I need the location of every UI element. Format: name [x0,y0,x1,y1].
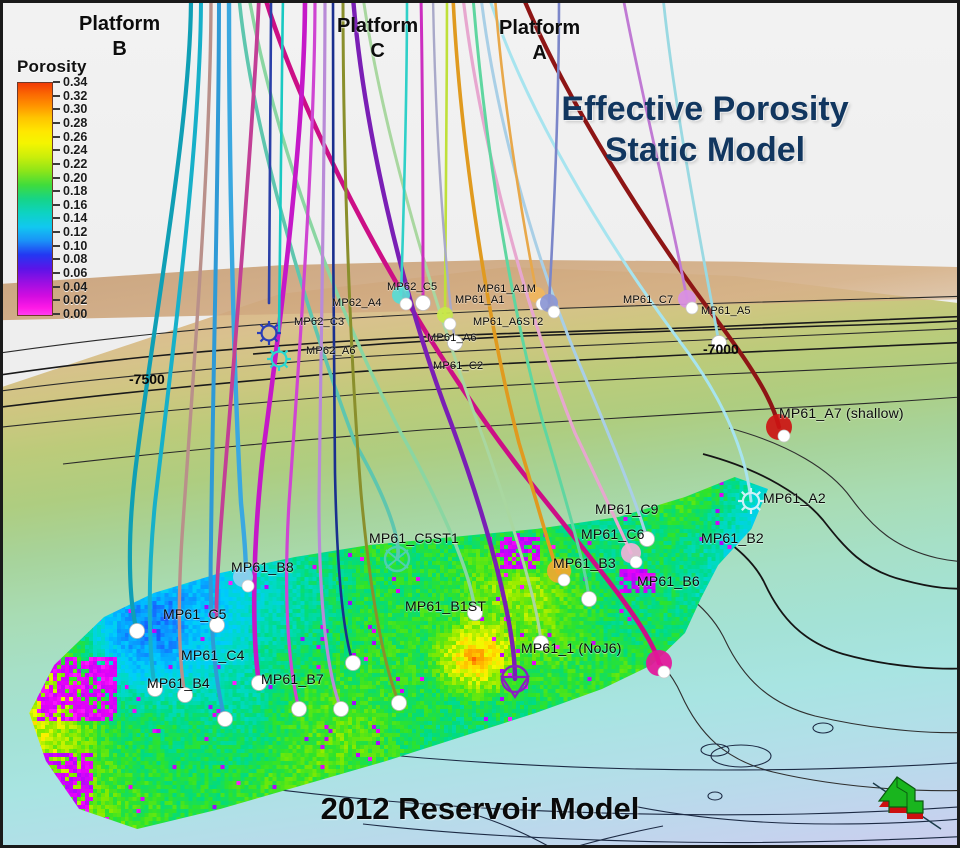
reservoir-model-figure: Porosity 0.340.320.300.280.260.240.220.2… [0,0,960,848]
legend-tick-mark [53,245,60,247]
well-label: MP61_B1ST [405,598,486,614]
legend-tick: 0.06 [53,266,87,280]
well-label: MP62_C5 [387,281,437,293]
platform-c-label: PlatformC [337,15,418,63]
legend-tick: 0.18 [53,184,87,198]
legend-tick-value: 0.10 [63,239,87,253]
well-label: MP61_A6ST2 [473,316,543,328]
legend-tick-mark [53,258,60,260]
legend-tick: 0.20 [53,171,87,185]
legend-tick-value: 0.22 [63,157,87,171]
well-label: MP61_B3 [553,555,616,571]
legend-tick-mark [53,231,60,233]
legend-tick-mark [53,81,60,83]
legend-tick: 0.30 [53,102,87,116]
legend-tick-value: 0.12 [63,225,87,239]
legend-tick-value: 0.16 [63,198,87,212]
legend-tick: 0.24 [53,143,87,157]
legend-tick-labels: 0.340.320.300.280.260.240.220.200.180.16… [53,82,111,314]
title-line-1: Effective Porosity [561,90,848,128]
legend-tick-value: 0.06 [63,266,87,280]
well-label: MP61_A2 [763,490,826,506]
platform-label-text: Platform [499,17,580,40]
well-label: MP61_C9 [595,501,659,517]
legend-tick: 0.34 [53,75,87,89]
legend-tick-value: 0.32 [63,89,87,103]
well-label: MP61_B7 [261,671,324,687]
well-label: MP61_C5ST1 [369,530,459,546]
figure-caption: 2012 Reservoir Model [3,791,957,827]
legend-tick-mark [53,204,60,206]
legend-tick-value: 0.18 [63,184,87,198]
legend-tick-value: 0.26 [63,130,87,144]
well-label: MP61_A6 [427,332,477,344]
legend-tick-value: 0.28 [63,116,87,130]
legend-tick-mark [53,122,60,124]
well-label: MP61_A7 (shallow) [779,405,904,421]
legend-tick-mark [53,217,60,219]
well-label: MP62_C3 [294,316,344,328]
legend-tick-mark [53,190,60,192]
legend-tick-mark [53,149,60,151]
legend-tick-value: 0.02 [63,293,87,307]
legend-tick-mark [53,177,60,179]
well-label: MP61_1 (NoJ6) [521,640,622,656]
platform-label-id: B [79,38,160,61]
legend-tick-mark [53,163,60,165]
legend-tick-value: 0.34 [63,75,87,89]
well-label: MP62_A6 [306,345,356,357]
legend-tick-mark [53,272,60,274]
porosity-legend: Porosity 0.340.320.300.280.260.240.220.2… [17,57,113,316]
legend-tick-value: 0.24 [63,143,87,157]
legend-tick: 0.00 [53,307,87,321]
legend-tick: 0.16 [53,198,87,212]
legend-tick: 0.10 [53,239,87,253]
legend-tick: 0.04 [53,280,87,294]
legend-tick-value: 0.00 [63,307,87,321]
legend-tick-value: 0.30 [63,102,87,116]
legend-tick: 0.12 [53,225,87,239]
legend-tick-value: 0.14 [63,211,87,225]
legend-color-ramp [17,82,53,316]
well-label: MP61_B2 [701,530,764,546]
well-label: MP61_C6 [581,526,645,542]
legend-tick-mark [53,95,60,97]
north-arrow-icon [871,773,943,835]
legend-tick: 0.22 [53,157,87,171]
depth-contour-label: -7500 [129,371,165,387]
legend-tick: 0.02 [53,293,87,307]
well-label: MP61_A1 [455,294,505,306]
well-label: MP61_B8 [231,559,294,575]
legend-tick-mark [53,313,60,315]
legend-tick-value: 0.08 [63,252,87,266]
legend-tick-mark [53,108,60,110]
legend-tick: 0.28 [53,116,87,130]
legend-tick: 0.14 [53,211,87,225]
platform-a-label: PlatformA [499,17,580,65]
platform-label-text: Platform [337,15,418,38]
legend-tick-mark [53,299,60,301]
page-title: Effective Porosity Static Model [485,89,925,172]
well-label: MP61_B6 [637,573,700,589]
well-label: MP61_C7 [623,294,673,306]
title-line-2: Static Model [605,131,805,169]
well-label: MP61_C5 [163,606,227,622]
legend-tick: 0.08 [53,252,87,266]
well-label: MP61_A5 [701,305,751,317]
legend-tick: 0.32 [53,89,87,103]
platform-label-id: C [337,40,418,63]
legend-tick-mark [53,286,60,288]
legend-tick-mark [53,136,60,138]
platform-label-text: Platform [79,13,160,36]
legend-tick: 0.26 [53,130,87,144]
legend-tick-value: 0.04 [63,280,87,294]
depth-contour-label: -7000 [703,341,739,357]
well-label: MP61_C2 [433,360,483,372]
platform-label-id: A [499,42,580,65]
well-label: MP61_B4 [147,675,210,691]
well-label: MP62_A4 [332,297,382,309]
well-label: MP61_C4 [181,647,245,663]
platform-b-label: PlatformB [79,13,160,61]
legend-tick-value: 0.20 [63,171,87,185]
